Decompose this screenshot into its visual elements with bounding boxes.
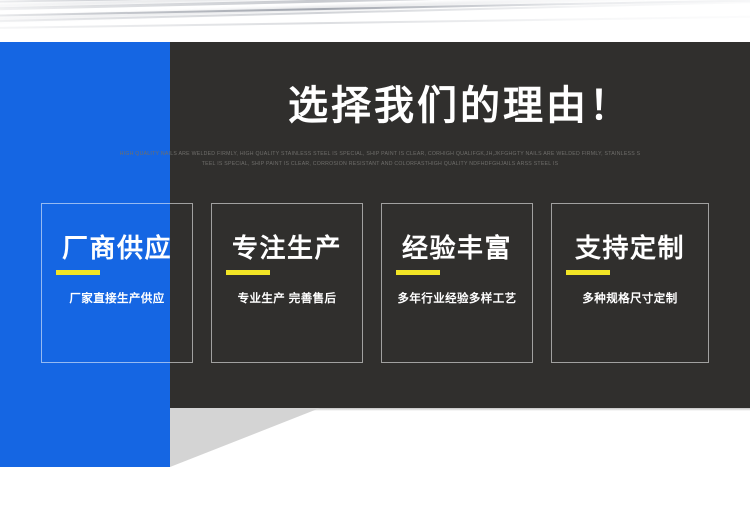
feature-card-4-subtitle: 多种规格尺寸定制 bbox=[552, 290, 708, 306]
feature-card-1-headline: 厂商供应 bbox=[42, 228, 192, 265]
banner-subtext-line-1: HIGH QUALITY NAILS ARE WELDED FIRMLY, HI… bbox=[110, 149, 650, 159]
feature-card-2-headline: 专注生产 bbox=[212, 228, 362, 265]
feature-card-3[interactable]: 经验丰富 多年行业经验多样工艺 bbox=[381, 203, 533, 363]
promo-banner: 选择我们的理由！ HIGH QUALITY NAILS ARE WELDED F… bbox=[0, 0, 750, 516]
texture-fade bbox=[0, 28, 750, 42]
feature-card-2[interactable]: 专注生产 专业生产 完善售后 bbox=[211, 203, 363, 363]
page-title: 选择我们的理由！ bbox=[170, 82, 750, 130]
feature-card-2-subtitle: 专业生产 完善售后 bbox=[212, 290, 362, 306]
banner-subtext: HIGH QUALITY NAILS ARE WELDED FIRMLY, HI… bbox=[110, 149, 650, 169]
feature-card-4-headline: 支持定制 bbox=[552, 228, 708, 265]
feature-card-4-accent-rule bbox=[566, 270, 610, 275]
feature-card-row: 厂商供应 厂家直接生产供应 专注生产 专业生产 完善售后 经验丰富 多年行业经验… bbox=[0, 203, 750, 363]
feature-card-1[interactable]: 厂商供应 厂家直接生产供应 bbox=[41, 203, 193, 363]
gray-diagonal-wedge bbox=[170, 408, 320, 467]
top-texture-band bbox=[0, 0, 750, 42]
banner-subtext-line-2: TEEL IS SPECIAL, SHIP PAINT IS CLEAR, CO… bbox=[110, 159, 650, 169]
feature-card-3-headline: 经验丰富 bbox=[382, 228, 532, 265]
feature-card-3-accent-rule bbox=[396, 270, 440, 275]
feature-card-1-subtitle: 厂家直接生产供应 bbox=[42, 290, 192, 306]
feature-card-4[interactable]: 支持定制 多种规格尺寸定制 bbox=[551, 203, 709, 363]
feature-card-2-accent-rule bbox=[226, 270, 270, 275]
feature-card-1-accent-rule bbox=[56, 270, 100, 275]
feature-card-3-subtitle: 多年行业经验多样工艺 bbox=[382, 290, 532, 306]
